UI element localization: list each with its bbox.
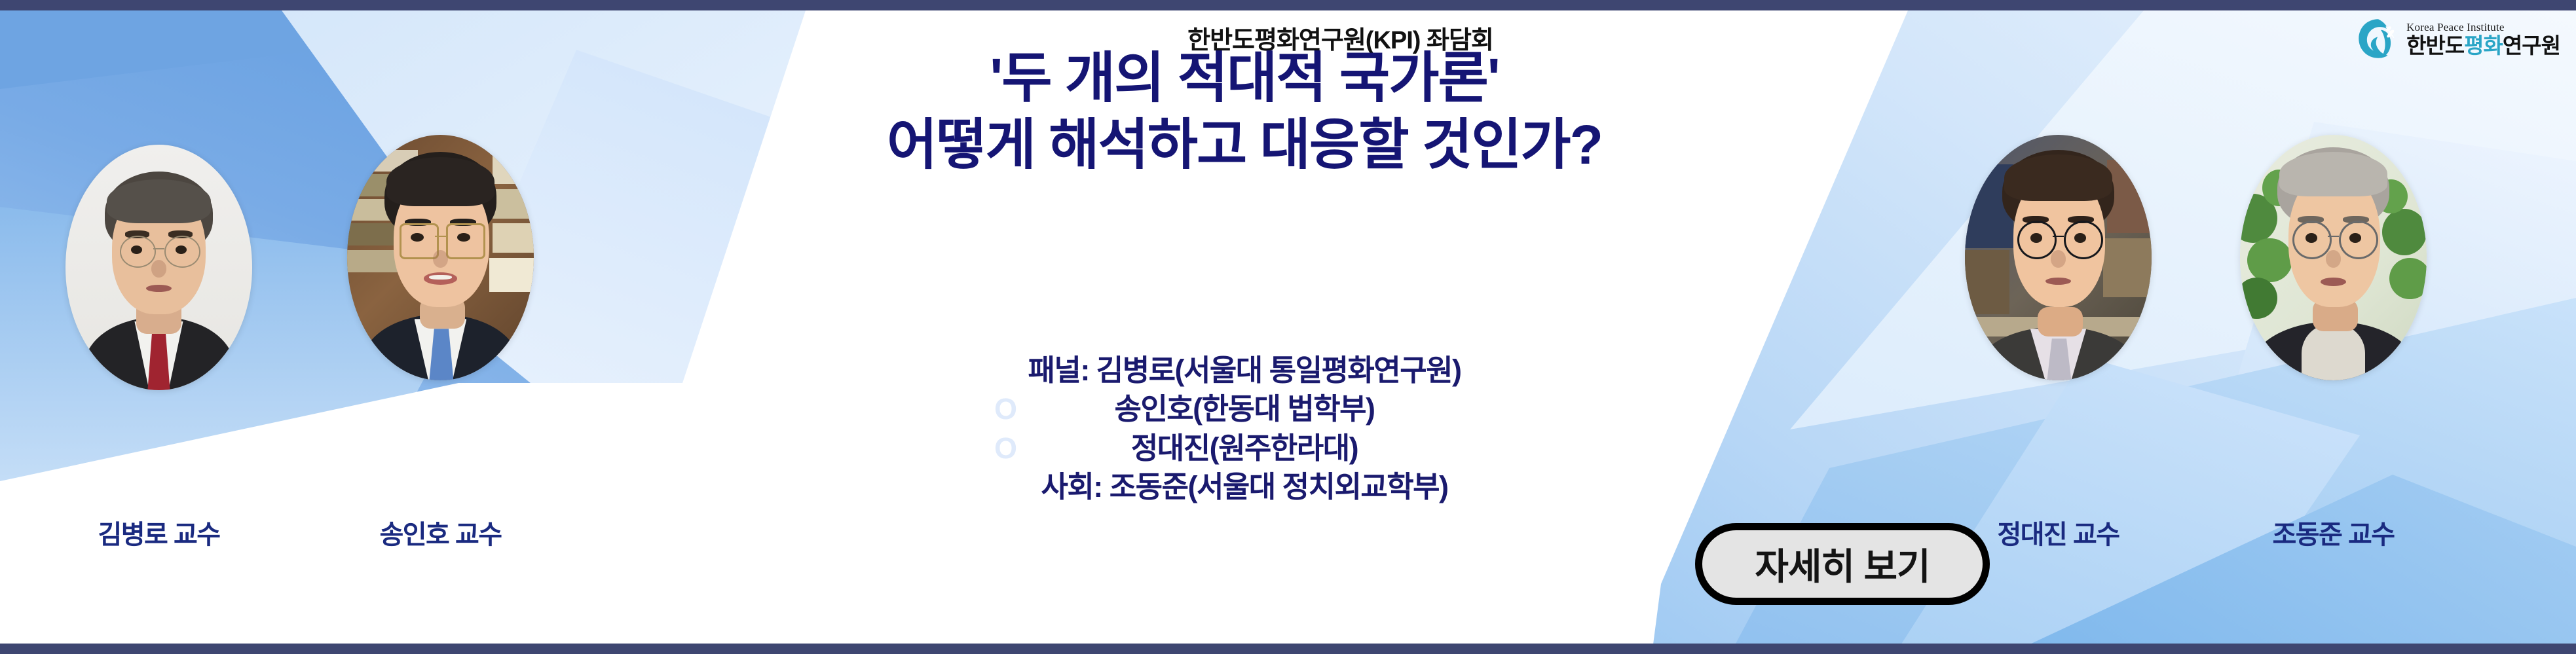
speaker-caption-song-inho: 송인호 교수 <box>321 513 560 551</box>
logo-kr-part3: 연구원 <box>2503 33 2560 58</box>
view-details-label: 자세히 보기 <box>1755 537 1930 590</box>
title-line-2: 어떻게 해석하고 대응할 것인가? <box>668 111 1821 178</box>
avatar <box>347 135 534 380</box>
panel-line-2: 송인호(한동대 법학부) <box>1114 392 1374 426</box>
panel-list: 패널: 김병로(서울대 통일평화연구원) O 송인호(한동대 법학부) O 정대… <box>668 351 1821 507</box>
dove-leaf-icon <box>2357 17 2400 60</box>
speaker-photo-cho-dongjun[interactable] <box>2240 135 2427 380</box>
speaker-photo-jung-daejin[interactable] <box>1965 135 2152 380</box>
speaker-photo-kim-byungro[interactable] <box>65 145 252 390</box>
logo-english-name: Korea Peace Institute <box>2406 22 2560 33</box>
panel-line-3-wrap: O 정대진(원주한라대) <box>668 429 1821 467</box>
kpi-forum-banner: 한반도평화연구원(KPI) 좌담회 Korea Peace Institute … <box>0 0 2576 654</box>
panel-line-3: 정대진(원주한라대) <box>1131 431 1358 465</box>
ghost-mark-1: O <box>994 390 1017 428</box>
avatar <box>1965 135 2152 380</box>
logo-text: Korea Peace Institute 한반도평화연구원 <box>2406 22 2560 56</box>
logo-korean-name: 한반도평화연구원 <box>2406 35 2560 56</box>
title-line-1: '두 개의 적대적 국가론' <box>668 45 1821 111</box>
speaker-caption-kim-byungro: 김병로 교수 <box>39 513 278 551</box>
logo-kr-part1: 한반도 <box>2406 33 2464 58</box>
logo-kr-part2: 평화 <box>2464 33 2503 58</box>
view-details-button[interactable]: 자세히 보기 <box>1695 523 1990 605</box>
main-title: '두 개의 적대적 국가론' 어떻게 해석하고 대응할 것인가? <box>668 45 1821 179</box>
kpi-logo[interactable]: Korea Peace Institute 한반도평화연구원 <box>2357 17 2560 60</box>
avatar <box>2240 135 2427 380</box>
avatar <box>65 145 252 390</box>
ghost-mark-2: O <box>994 429 1017 467</box>
speaker-photo-song-inho[interactable] <box>347 135 534 380</box>
panel-line-4: 사회: 조동준(서울대 정치외교학부) <box>668 467 1821 506</box>
panel-line-1: 패널: 김병로(서울대 통일평화연구원) <box>668 351 1821 390</box>
speaker-caption-cho-dongjun: 조동준 교수 <box>2214 513 2453 551</box>
panel-line-2-wrap: O 송인호(한동대 법학부) <box>668 390 1821 428</box>
